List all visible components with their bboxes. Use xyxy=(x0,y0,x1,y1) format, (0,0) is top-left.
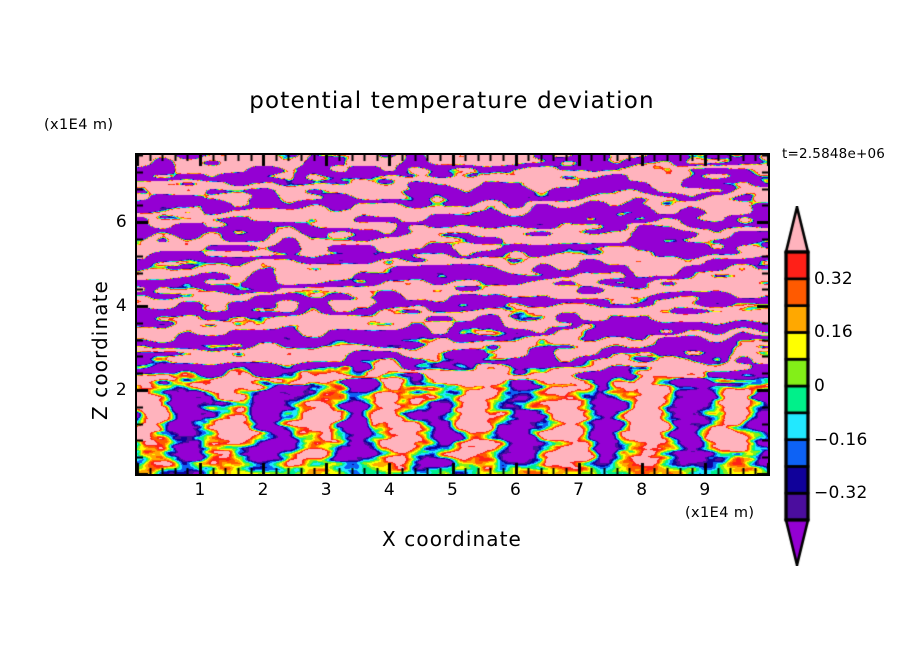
x-tick-label: 6 xyxy=(510,480,521,500)
x-tick-label: 5 xyxy=(447,480,458,500)
x-tick-label: 4 xyxy=(384,480,395,500)
colorbar-canvas xyxy=(780,206,814,566)
colorbar-tick-label: −0.32 xyxy=(814,483,868,503)
x-tick-label: 2 xyxy=(258,480,269,500)
x-tick-label: 3 xyxy=(321,480,332,500)
y-axis-unit-label: (x1E4 m) xyxy=(44,117,113,133)
colorbar[interactable]: 0.320.160−0.16−0.32 xyxy=(786,206,808,516)
x-tick-label: 7 xyxy=(573,480,584,500)
timestamp-label: t=2.5848e+06 xyxy=(782,146,885,162)
x-tick-label: 9 xyxy=(699,480,710,500)
colorbar-tick-label: 0.32 xyxy=(814,269,853,289)
y-axis-title: Z coordinate xyxy=(88,280,112,420)
figure-root: potential temperature deviation (x1E4 m)… xyxy=(0,0,904,654)
x-tick-label: 1 xyxy=(195,480,206,500)
x-axis-unit-label: (x1E4 m) xyxy=(685,505,754,521)
colorbar-tick-label: −0.16 xyxy=(814,430,868,450)
x-axis-title: X coordinate xyxy=(0,527,904,551)
x-tick-label: 8 xyxy=(636,480,647,500)
contour-plot-area[interactable] xyxy=(135,153,770,476)
colorbar-tick-label: 0.16 xyxy=(814,322,853,342)
contour-field-canvas xyxy=(137,155,768,474)
y-tick-label: 6 xyxy=(103,212,127,232)
colorbar-tick-label: 0 xyxy=(814,376,825,396)
chart-title: potential temperature deviation xyxy=(0,88,904,114)
